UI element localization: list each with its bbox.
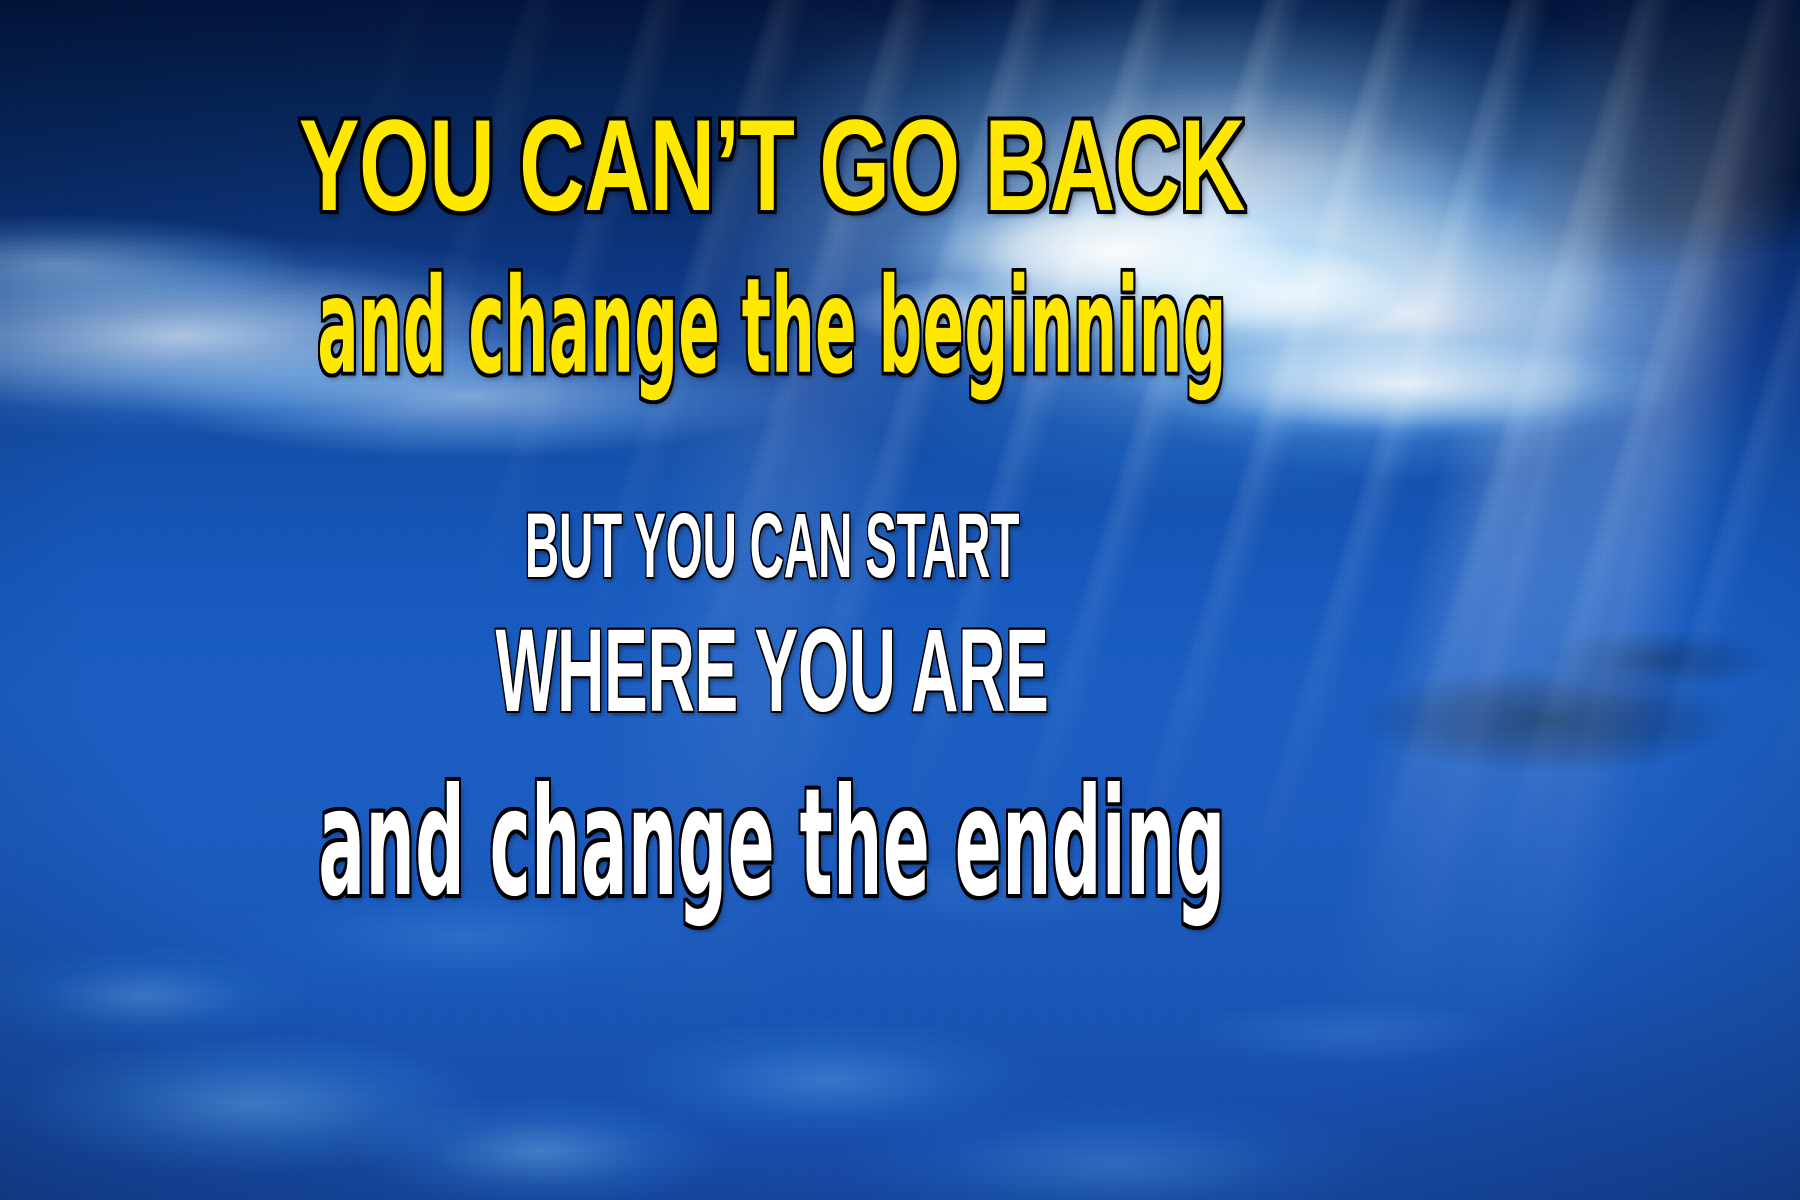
- quote-text-block: YOU CAN’T GO BACK and change the beginni…: [0, 0, 1800, 1200]
- quote-line-5: and change the ending: [185, 768, 1360, 917]
- quote-line-3: BUT YOU CAN START: [306, 500, 1238, 592]
- motivational-quote-poster: YOU CAN’T GO BACK and change the beginni…: [0, 0, 1800, 1200]
- quote-line-1: YOU CAN’T GO BACK: [143, 100, 1401, 230]
- quote-line-4: WHERE YOU ARE: [272, 612, 1272, 730]
- quote-line-2: and change the beginning: [206, 262, 1338, 394]
